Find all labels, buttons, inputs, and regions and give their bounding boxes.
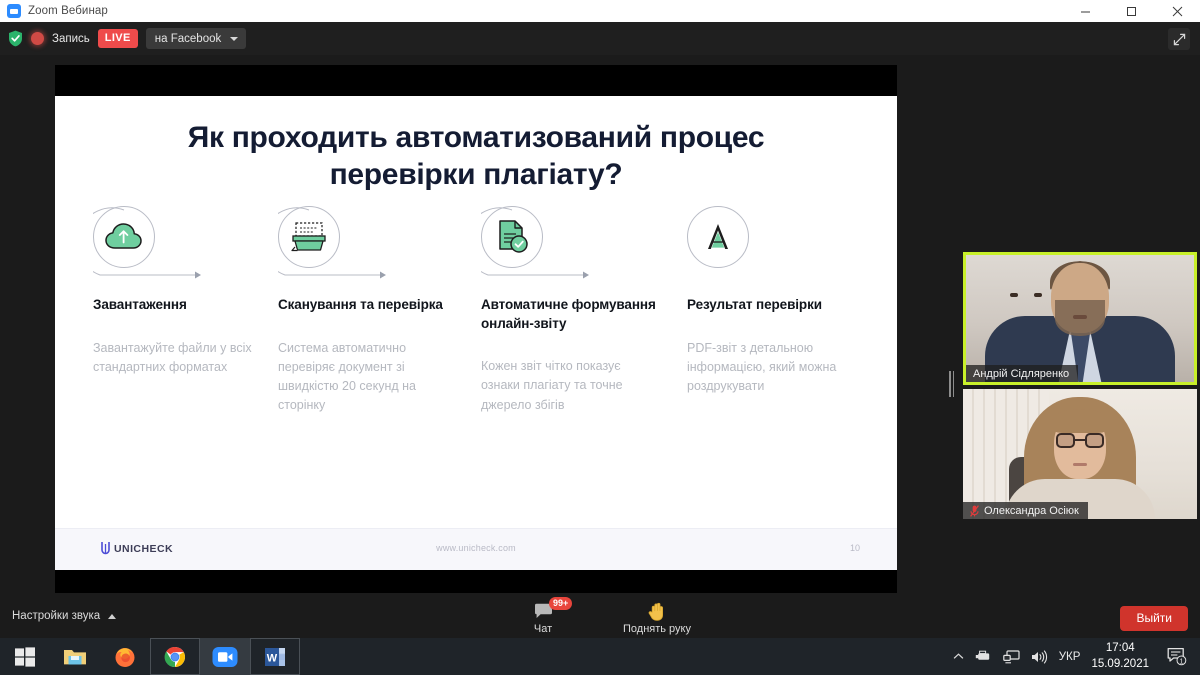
panel-resize-handle[interactable] (949, 371, 954, 397)
window-title-bar: Zoom Вебинар (0, 0, 1200, 22)
slide-footer: UNICHECK www.unicheck.com 10 (55, 528, 897, 570)
recording-label: Запись (52, 33, 90, 45)
process-step-2: Сканування та перевірка Система автомати… (278, 206, 453, 415)
taskbar-items: W (0, 638, 300, 675)
step-icon-wrap (481, 206, 601, 292)
video-feed (963, 389, 1197, 519)
step-body: Система автоматично перевіряє документ з… (278, 339, 453, 416)
step-body: Кожен звіт чітко показує ознаки плагіату… (481, 357, 656, 414)
raise-hand-label: Поднять руку (617, 623, 697, 635)
security-shield-icon (8, 30, 23, 47)
step-icon-wrap (278, 206, 398, 292)
stream-target-chip[interactable]: на Facebook (146, 28, 246, 49)
slide-footer-url: www.unicheck.com (55, 543, 897, 553)
zoom-webinar-window: Zoom Вебинар Запись LIVE (0, 0, 1200, 675)
expand-fullscreen-icon[interactable] (1168, 28, 1190, 50)
minimize-icon[interactable] (1062, 0, 1108, 22)
zoom-app-icon[interactable] (200, 638, 250, 675)
slide-page-number: 10 (850, 543, 860, 553)
clock-time: 17:04 (1106, 642, 1135, 654)
letter-a-report-icon (687, 206, 749, 268)
window-title: Zoom Вебинар (28, 5, 108, 17)
video-tile-speaker-2[interactable]: Олександра Осіюк (963, 389, 1197, 519)
video-feed (966, 255, 1194, 382)
slide-title: Як проходить автоматизований процес пере… (125, 120, 827, 193)
maximize-icon[interactable] (1108, 0, 1154, 22)
close-icon[interactable] (1154, 0, 1200, 22)
stream-target-label: на Facebook (155, 33, 221, 45)
language-indicator[interactable]: УКР (1059, 651, 1081, 663)
leave-meeting-button[interactable]: Выйти (1120, 606, 1188, 631)
process-step-1: Завантаження Завантажуйте файли у всіх с… (93, 206, 268, 377)
chat-button[interactable]: 99+ Чат (503, 600, 583, 635)
shared-screen-area[interactable]: Як проходить автоматизований процес пере… (55, 65, 897, 593)
windows-taskbar: W (0, 638, 1200, 675)
step-icon-wrap (687, 206, 807, 292)
chevron-up-icon[interactable] (953, 652, 964, 661)
meeting-control-bar: Настройки звука 99+ Чат Поднят (0, 600, 1200, 638)
windows-start-icon[interactable] (0, 638, 50, 675)
zoom-top-bar: Запись LIVE на Facebook (0, 22, 1200, 55)
action-center-icon[interactable]: 1 (1160, 638, 1194, 675)
step-body: Завантажуйте файли у всіх стандартних фо… (93, 339, 268, 377)
step-heading: Завантаження (93, 296, 268, 315)
step-heading: Сканування та перевірка (278, 296, 453, 315)
taskbar-clock[interactable]: 17:04 15.09.2021 (1091, 641, 1149, 672)
meeting-stage: Як проходить автоматизований процес пере… (0, 55, 1200, 600)
zoom-icon (7, 4, 21, 18)
scanner-document-icon (278, 206, 340, 268)
step-icon-wrap (93, 206, 213, 292)
step-heading: Автоматичне формування онлайн-звіту (481, 296, 656, 333)
cloud-upload-icon (93, 206, 155, 268)
video-tile-speaker-1[interactable]: Андрій Сідляренко (963, 252, 1197, 385)
volume-icon[interactable] (1031, 650, 1048, 664)
usb-device-icon[interactable] (975, 650, 992, 663)
chat-label: Чат (503, 623, 583, 635)
center-tool-group: 99+ Чат Поднять руку (0, 600, 1200, 638)
network-icon[interactable] (1003, 650, 1020, 664)
firefox-icon[interactable] (100, 638, 150, 675)
word-icon[interactable]: W (250, 638, 300, 675)
clock-date: 15.09.2021 (1091, 658, 1149, 670)
chat-unread-badge: 99+ (549, 597, 572, 610)
raise-hand-icon (617, 601, 697, 621)
process-step-3: Автоматичне формування онлайн-звіту Коже… (481, 206, 656, 415)
video-thumbnail-strip: Андрій Сідляренко (963, 197, 1197, 532)
chrome-icon[interactable] (150, 638, 200, 675)
chevron-down-icon[interactable] (230, 37, 238, 41)
svg-text:1: 1 (1179, 658, 1183, 665)
document-check-icon (481, 206, 543, 268)
system-tray: УКР 17:04 15.09.2021 1 (953, 638, 1200, 675)
svg-text:W: W (267, 652, 278, 664)
file-explorer-icon[interactable] (50, 638, 100, 675)
recording-dot-icon[interactable] (31, 32, 44, 45)
process-step-4: Результат перевірки PDF-звіт з детальною… (687, 206, 862, 396)
window-controls (1062, 0, 1200, 22)
recording-status-group: Запись LIVE на Facebook (8, 27, 246, 50)
participant-name-tag: Андрій Сідляренко (966, 365, 1078, 382)
step-heading: Результат перевірки (687, 296, 862, 315)
participant-name-tag: Олександра Осіюк (963, 502, 1088, 519)
live-badge: LIVE (98, 29, 138, 47)
step-body: PDF-звіт з детальною інформацією, який м… (687, 339, 862, 396)
participant-name: Андрій Сідляренко (973, 368, 1069, 380)
participant-name: Олександра Осіюк (984, 505, 1079, 517)
presentation-slide: Як проходить автоматизований процес пере… (55, 96, 897, 570)
mic-muted-icon (970, 505, 979, 517)
raise-hand-button[interactable]: Поднять руку (617, 600, 697, 635)
